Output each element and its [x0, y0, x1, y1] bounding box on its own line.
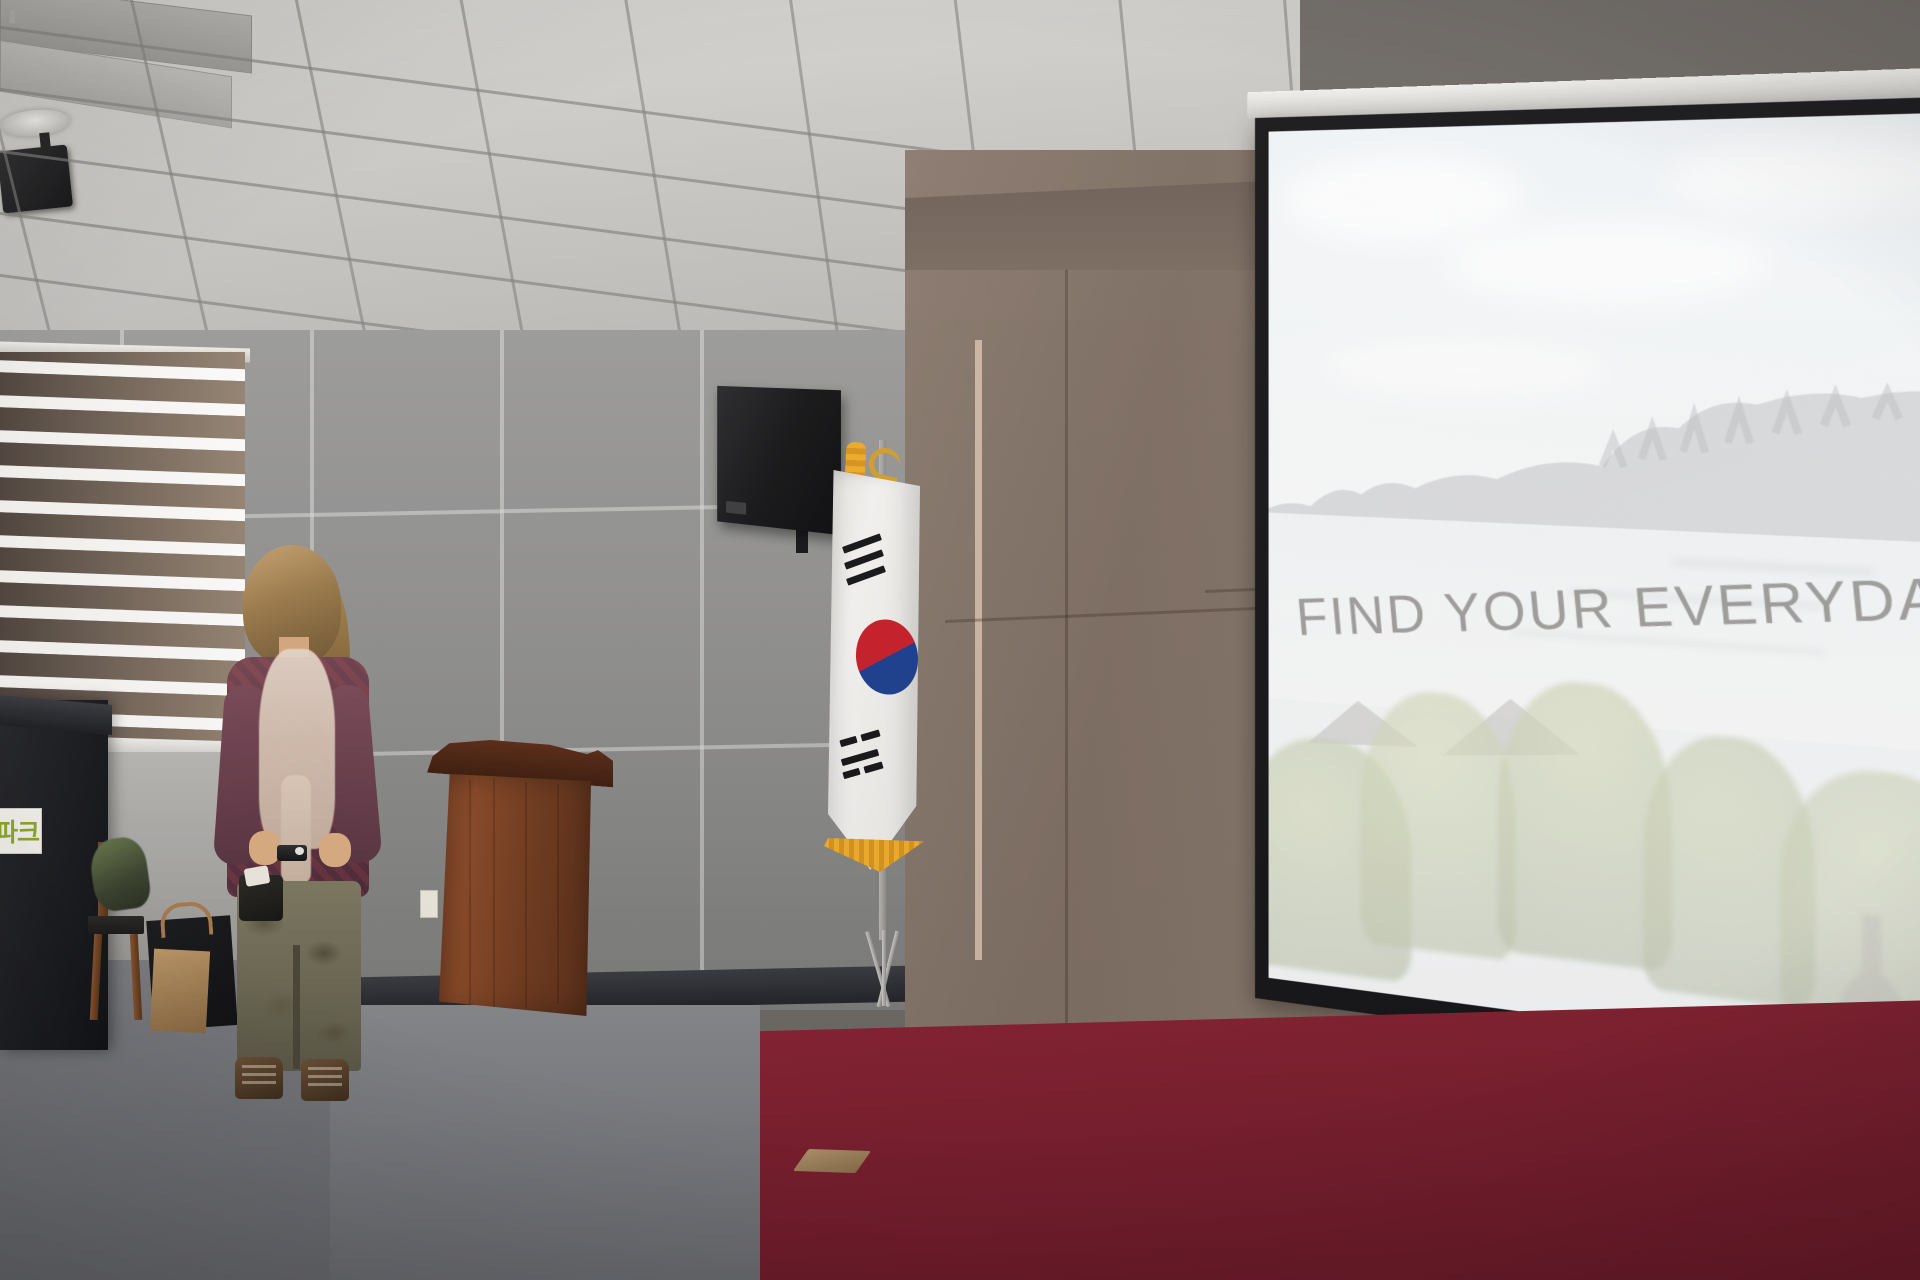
presenter-scarf-tail [281, 775, 311, 885]
projected-slide: FIND YOUR EVERYDAY BEAUTY [1269, 111, 1920, 1076]
south-korean-flag-icon [828, 470, 920, 870]
presenter [215, 545, 390, 1105]
stool-seat [88, 916, 144, 934]
lectern-body [439, 774, 591, 1016]
flag-stand-leg [882, 930, 886, 1006]
loudspeaker-icon [717, 386, 841, 535]
wood-panel-reveal [975, 340, 982, 960]
remote-highlight [295, 847, 304, 855]
taeguk-symbol-icon [845, 608, 928, 707]
wall-panel-seam [700, 330, 704, 1010]
stool[interactable] [88, 900, 144, 1020]
screen-border: FIND YOUR EVERYDAY BEAUTY [1255, 95, 1920, 1102]
presenter-boot-right [301, 1059, 349, 1101]
shopping-bag [150, 949, 210, 1034]
pants-seam [293, 945, 300, 1069]
wood-panel-seam [1065, 270, 1068, 1030]
wall-outlet-icon[interactable] [420, 890, 438, 918]
lectern[interactable] [437, 740, 597, 1015]
presentation-room-photo: FIND YOUR EVERYDAY BEAUTY 파크 [0, 0, 1920, 1280]
wall-sign: 파크 [0, 808, 42, 854]
projection-screen: FIND YOUR EVERYDAY BEAUTY [1255, 95, 1920, 1130]
presenter-boot-left [235, 1057, 283, 1099]
presenter-hand-right [319, 833, 351, 867]
wall-sign-label: 파크 [0, 813, 41, 849]
zebra-roller-blind[interactable] [0, 352, 245, 744]
